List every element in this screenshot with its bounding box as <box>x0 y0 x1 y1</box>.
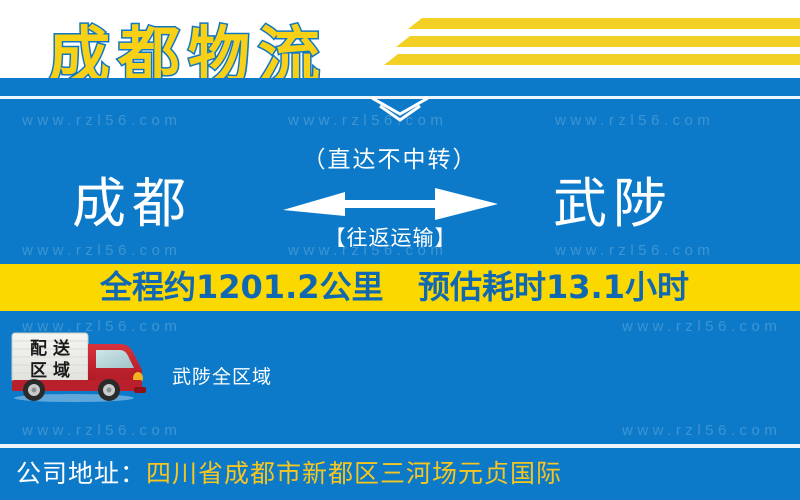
stripe-2 <box>396 36 800 47</box>
company-address: 公司地址：四川省成都市新都区三河场元贞国际 <box>16 448 562 500</box>
address-value: 四川省成都市新都区三河场元贞国际 <box>146 460 562 488</box>
stats-band: 全程约1201.2公里 预估耗时13.1小时 <box>0 264 800 311</box>
page-title: 成都物流 <box>48 5 328 78</box>
address-label: 公司地址： <box>16 460 146 488</box>
coverage-text: 武陟全区域 <box>172 362 272 389</box>
duration-text: 预估耗时13.1小时 <box>418 264 689 311</box>
stripe-1 <box>408 18 800 29</box>
destination-city: 武陟 <box>553 168 673 240</box>
decorative-stripes <box>380 14 800 72</box>
svg-text:配 送: 配 送 <box>30 338 71 359</box>
stripe-3 <box>384 54 800 65</box>
poster-footer: 公司地址：四川省成都市新都区三河场元贞国际 <box>0 448 800 500</box>
header-blue-bar <box>0 78 800 96</box>
origin-city: 成都 <box>72 168 192 240</box>
roundtrip-label: 【往返运输】 <box>283 222 498 252</box>
poster-header: 成都物流 <box>0 0 800 78</box>
distance-text: 全程约1201.2公里 <box>100 264 384 311</box>
svg-text:区 域: 区 域 <box>30 360 70 381</box>
double-chevron-down-icon <box>370 96 430 126</box>
delivery-truck-icon: 配 送 区 域 <box>8 330 158 402</box>
logistics-poster: 成都物流 www.rzl56.comwww.rzl56.comwww.rzl56… <box>0 0 800 500</box>
